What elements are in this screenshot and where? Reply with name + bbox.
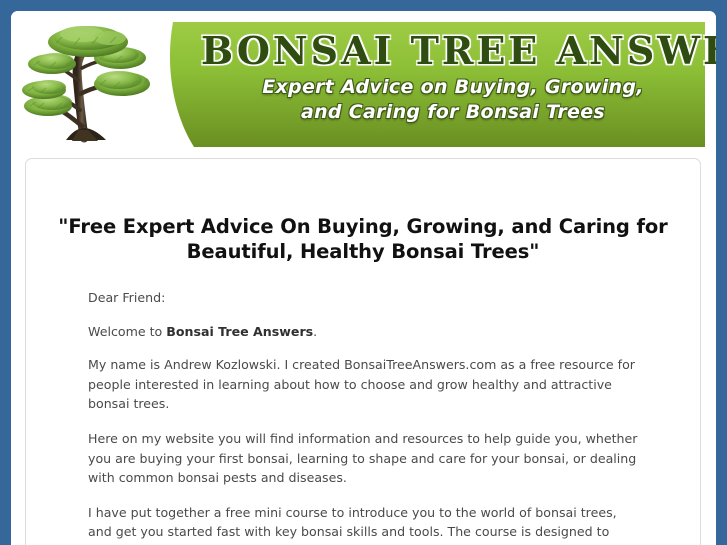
paragraph-mini-course: I have put together a free mini course t… xyxy=(88,503,643,545)
page-frame: BONSAI TREE ANSWERS Expert Advice on Buy… xyxy=(0,0,727,545)
sales-letter-body: Dear Friend: Welcome to Bonsai Tree Answ… xyxy=(26,264,700,545)
brand-name: Bonsai Tree Answers xyxy=(166,324,313,339)
header-banner: BONSAI TREE ANSWERS Expert Advice on Buy… xyxy=(151,22,705,147)
paragraph-welcome: Welcome to Bonsai Tree Answers. xyxy=(88,322,643,342)
bonsai-tree-logo-icon xyxy=(22,22,157,146)
page-sheet: BONSAI TREE ANSWERS Expert Advice on Buy… xyxy=(11,11,716,545)
page-headline: "Free Expert Advice On Buying, Growing, … xyxy=(26,159,700,264)
content-card: "Free Expert Advice On Buying, Growing, … xyxy=(25,158,701,545)
paragraph-intro: My name is Andrew Kozlowski. I created B… xyxy=(88,355,643,414)
welcome-suffix: . xyxy=(313,324,317,339)
paragraph-website-info: Here on my website you will find informa… xyxy=(88,429,643,488)
welcome-prefix: Welcome to xyxy=(88,324,166,339)
paragraph-salutation: Dear Friend: xyxy=(88,288,643,308)
site-header: BONSAI TREE ANSWERS Expert Advice on Buy… xyxy=(11,11,716,148)
